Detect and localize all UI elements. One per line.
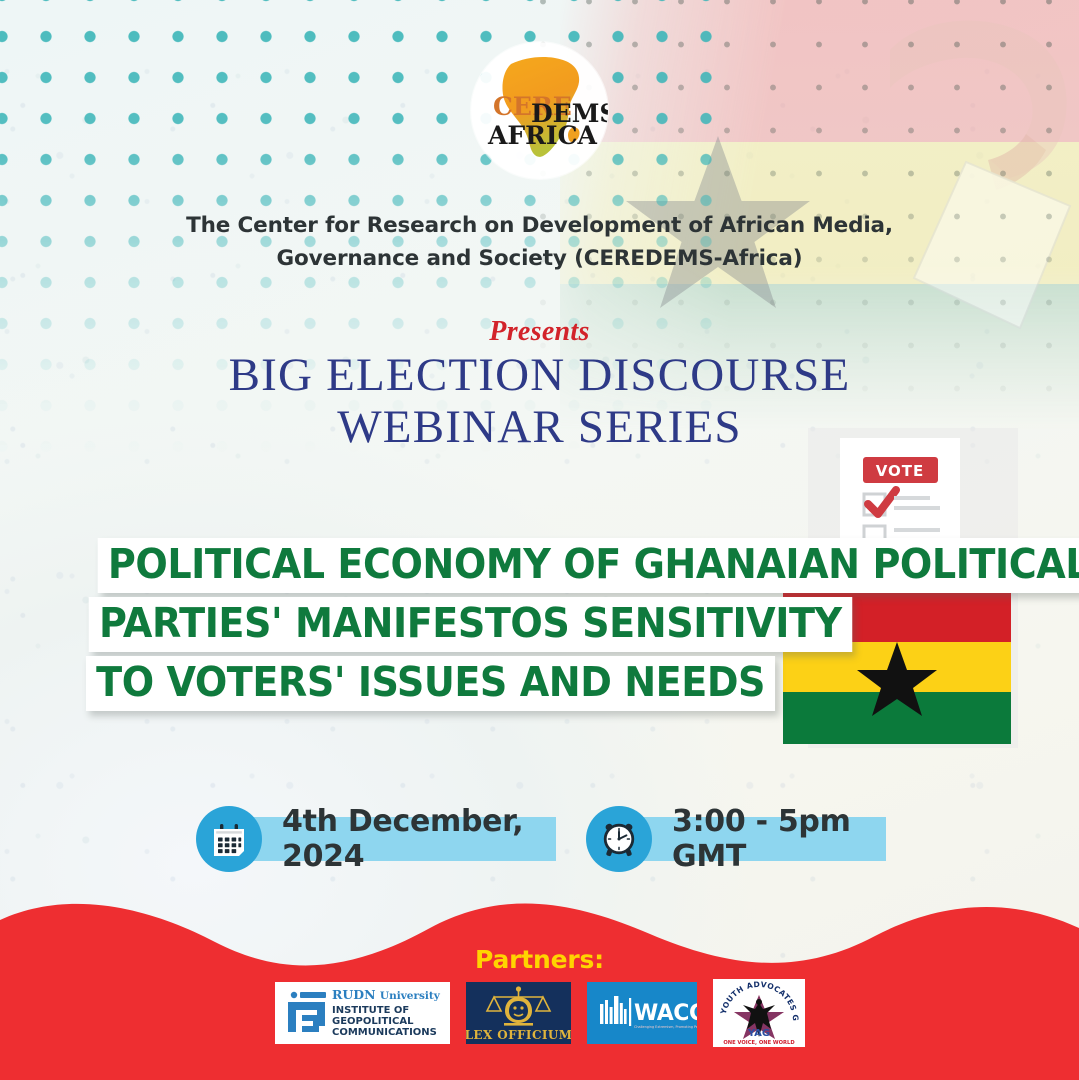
headline-line-2: PARTIES' MANIFESTOS SENSITIVITY [89,597,852,652]
wacce-name: WACCE [634,1001,697,1026]
rudn-line4: COMMUNICATIONS [332,1027,437,1038]
rudn-university-logo: RUDN University INSTITUTE OF GEOPOLITICA… [275,982,450,1044]
africa-map-icon: CERE DEMS AFRICA [471,42,608,179]
webinar-flyer: CERE DEMS AFRICA The Center for Research… [0,0,1079,1080]
rudn-line1: RUDN University [332,987,441,1002]
organization-name: The Center for Research on Development o… [0,209,1079,275]
ghana-ballot-box-illustration: VOTE VOTE [768,420,1046,770]
headline-line-1: POLITICAL ECONOMY OF GHANAIAN POLITICAL [98,538,1079,593]
series-title-line1: BIG ELECTION DISCOURSE [229,349,851,401]
event-date-chip: 4th December, 2024 [210,817,556,861]
webinar-topic-headline: POLITICAL ECONOMY OF GHANAIAN POLITICAL … [60,538,760,711]
wacce-tagline: Challenging Extremism, Promoting Peacefu… [634,1025,697,1029]
clock-icon [586,806,652,872]
yag-slogan: ONE VOICE, ONE WORLD [723,1040,795,1046]
calendar-icon [196,806,262,872]
svg-text:VOTE: VOTE [876,462,925,480]
rudn-line3: GEOPOLITICAL [332,1016,414,1027]
youth-advocates-ghana-logo: YOUTH ADVOCATES GHANA YAG ONE VOICE, ONE… [713,979,805,1047]
partner-logos-row: RUDN University INSTITUTE OF GEOPOLITICA… [0,979,1079,1047]
organization-name-line2: Governance and Society (CEREDEMS-Africa) [0,242,1079,275]
flag-stripe-green [783,692,1011,744]
headline-line-3: TO VOTERS' ISSUES AND NEEDS [86,656,775,711]
rudn-line2: INSTITUTE OF [332,1005,409,1016]
event-meta-row: 4th December, 2024 [0,806,1079,872]
wacce-logo: WACCE Challenging Extremism, Promoting P… [587,982,697,1044]
lex-officium-name: LEX OFFICIUM [466,1028,571,1042]
event-time-label: 3:00 - 5pm GMT [672,804,886,874]
lex-officium-logo: LEX OFFICIUM [466,982,571,1044]
ceredems-africa-logo: CERE DEMS AFRICA [471,42,608,179]
partners-label: Partners: [0,945,1079,974]
organization-name-line1: The Center for Research on Development o… [0,209,1079,242]
yag-acronym: YAG [746,1028,769,1039]
event-time-chip: 3:00 - 5pm GMT [600,817,886,861]
logo-text-africa: AFRICA [487,121,598,150]
presents-label: Presents [0,316,1079,348]
event-date-label: 4th December, 2024 [282,804,556,874]
